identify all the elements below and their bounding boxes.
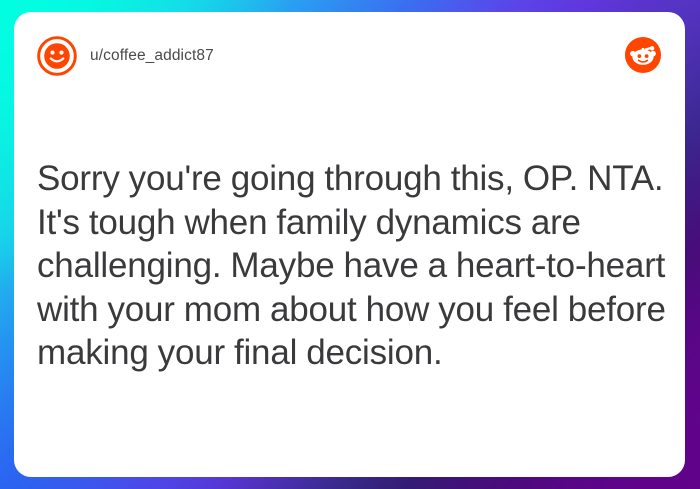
card-header: u/coffee_addict87 — [14, 12, 685, 98]
screenshot-stage: u/coffee_addict87 — [0, 0, 700, 489]
reddit-snoo-icon[interactable] — [624, 36, 662, 74]
smiley-face-avatar-icon[interactable] — [36, 35, 78, 77]
reddit-comment-card: u/coffee_addict87 — [14, 12, 685, 477]
username-label: u/coffee_addict87 — [90, 46, 214, 66]
comment-body-text: Sorry you're going through this, OP. NTA… — [37, 157, 667, 375]
